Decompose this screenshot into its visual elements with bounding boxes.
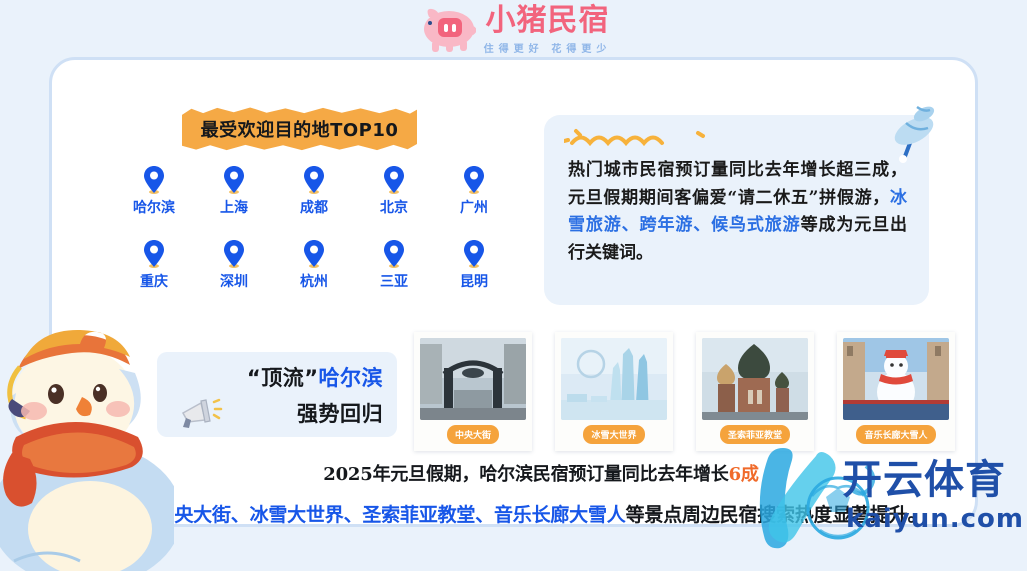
main-content-card: 最受欢迎目的地TOP10 哈尔滨 上海 bbox=[49, 57, 978, 527]
pig-icon bbox=[416, 7, 476, 53]
photo-caption: 中央大街 bbox=[447, 425, 499, 444]
city-label: 广州 bbox=[460, 197, 488, 217]
wavy-underline-icon bbox=[564, 127, 714, 154]
city-item[interactable]: 深圳 bbox=[194, 239, 274, 291]
city-item[interactable]: 杭州 bbox=[274, 239, 354, 291]
city-item[interactable]: 昆明 bbox=[434, 239, 514, 291]
city-item[interactable]: 哈尔滨 bbox=[114, 165, 194, 217]
city-label: 重庆 bbox=[140, 271, 168, 291]
footnote-line-2: 中央大街、冰雪大世界、圣索菲亚教堂、音乐长廊大雪人等景点周边民宿搜索热度显著提升… bbox=[101, 500, 978, 527]
map-pin-icon bbox=[383, 165, 405, 195]
photo-card[interactable]: 音乐长廊大雪人 bbox=[837, 332, 955, 451]
map-pin-icon bbox=[223, 239, 245, 269]
city-grid: 哈尔滨 上海 成都 bbox=[114, 165, 514, 291]
city-label: 深圳 bbox=[220, 271, 248, 291]
harbin-badge-line1: “顶流”哈尔滨 bbox=[157, 362, 383, 392]
city-item[interactable]: 北京 bbox=[354, 165, 434, 217]
zhongyang-street-archway-image bbox=[420, 338, 526, 420]
map-pin-icon bbox=[303, 239, 325, 269]
banner-title: 最受欢迎目的地TOP10 bbox=[182, 107, 417, 151]
map-pin-icon bbox=[463, 239, 485, 269]
city-label: 三亚 bbox=[380, 271, 408, 291]
photo-card[interactable]: 冰雪大世界 bbox=[555, 332, 673, 451]
footnote-growth-percent: 6成 bbox=[729, 464, 759, 485]
map-pin-icon bbox=[143, 239, 165, 269]
photo-card[interactable]: 中央大街 bbox=[414, 332, 532, 451]
city-item[interactable]: 三亚 bbox=[354, 239, 434, 291]
info-paragraph: 热门城市民宿预订量同比去年增长超三成，元旦假期期间客偏爱“请二休五”拼假游，冰雪… bbox=[568, 157, 907, 267]
map-pin-icon bbox=[303, 165, 325, 195]
city-item[interactable]: 广州 bbox=[434, 165, 514, 217]
saint-sophia-cathedral-image bbox=[702, 338, 808, 420]
brand-logo: 小猪民宿 住得更好 花得更少 bbox=[416, 5, 612, 55]
map-pin-icon bbox=[463, 165, 485, 195]
photo-caption: 音乐长廊大雪人 bbox=[856, 425, 935, 444]
city-label: 北京 bbox=[380, 197, 408, 217]
map-pin-icon bbox=[383, 239, 405, 269]
city-label: 哈尔滨 bbox=[133, 197, 175, 217]
brand-slogan: 住得更好 花得更少 bbox=[484, 40, 612, 55]
city-label: 昆明 bbox=[460, 271, 488, 291]
pushpin-icon bbox=[884, 97, 942, 163]
summary-info-panel: 热门城市民宿预订量同比去年增长超三成，元旦假期期间客偏爱“请二休五”拼假游，冰雪… bbox=[544, 115, 929, 305]
snowman-mascot bbox=[0, 305, 174, 571]
harbin-badge-prefix: “顶流” bbox=[247, 366, 319, 390]
city-item[interactable]: 成都 bbox=[274, 165, 354, 217]
attraction-photo-list: 中央大街 冰雪大世界 bbox=[414, 332, 944, 451]
city-label: 杭州 bbox=[300, 271, 328, 291]
photo-caption: 冰雪大世界 bbox=[583, 425, 644, 444]
city-item[interactable]: 重庆 bbox=[114, 239, 194, 291]
map-pin-icon bbox=[143, 165, 165, 195]
info-segment-1: 热门城市民宿预订量同比去年增长超三成，元旦假期期间客偏爱“请二休五”拼假游， bbox=[568, 160, 907, 208]
ice-snow-world-towers-image bbox=[561, 338, 667, 420]
photo-card[interactable]: 圣索菲亚教堂 bbox=[696, 332, 814, 451]
city-label: 上海 bbox=[220, 197, 248, 217]
footnote-line-1: 2025年元旦假期，哈尔滨民宿预订量同比去年增长6成 bbox=[101, 460, 978, 486]
music-corridor-big-snowman-image bbox=[843, 338, 949, 420]
summary-footnote: 2025年元旦假期，哈尔滨民宿预订量同比去年增长6成 中央大街、冰雪大世界、圣索… bbox=[101, 460, 978, 527]
footnote-attractions: 中央大街、冰雪大世界、圣索菲亚教堂、音乐长廊大雪人 bbox=[156, 504, 626, 526]
harbin-badge-line2: 强势回归 bbox=[157, 398, 383, 428]
city-label: 成都 bbox=[300, 197, 328, 217]
top-destinations-banner: 最受欢迎目的地TOP10 bbox=[182, 107, 417, 151]
map-pin-icon bbox=[223, 165, 245, 195]
footnote-line1-text: 2025年元旦假期，哈尔滨民宿预订量同比去年增长 bbox=[323, 464, 728, 485]
harbin-badge-city: 哈尔滨 bbox=[319, 366, 384, 390]
brand-name: 小猪民宿 bbox=[486, 5, 610, 37]
page-header: 小猪民宿 住得更好 花得更少 bbox=[0, 0, 1027, 60]
photo-caption: 圣索菲亚教堂 bbox=[720, 425, 790, 444]
footnote-line2-text: 等景点周边民宿搜索热度显著提升。 bbox=[626, 504, 927, 526]
city-item[interactable]: 上海 bbox=[194, 165, 274, 217]
harbin-highlight-badge: “顶流”哈尔滨 强势回归 bbox=[157, 352, 397, 437]
